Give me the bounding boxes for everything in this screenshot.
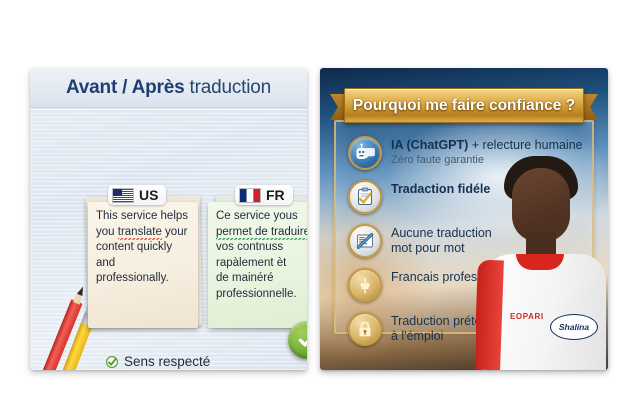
- no-word-for-word-icon: [348, 224, 382, 258]
- english-source-note: This service helps you translate your co…: [88, 202, 198, 328]
- poster-canvas: Avant / Après traduction: [0, 0, 618, 412]
- jersey-logo-text: Shalina: [559, 322, 589, 332]
- fr-line-6: professionnelle.: [216, 288, 297, 300]
- en-line-3: content quickly and: [96, 241, 172, 269]
- checkmark-icon: [296, 329, 307, 351]
- feature-title-bold: IA (ChatGPT): [391, 138, 468, 152]
- english-note-text: This service helps you translate your co…: [96, 209, 192, 287]
- avatar: EOPARI Shalina: [476, 154, 608, 370]
- tab-target-language-fr[interactable]: FR: [235, 185, 293, 205]
- jersey-sponsor-text: EOPARI: [510, 312, 544, 321]
- fr-line-5: de mainéré: [216, 272, 274, 284]
- en-line-2-pre: you: [96, 226, 118, 238]
- avatar-jersey-sleeve: [476, 260, 504, 370]
- list-item-label: Sens respecté: [124, 354, 210, 369]
- jersey-logo-badge: Shalina: [550, 314, 598, 340]
- tab-label-fr: FR: [266, 187, 285, 203]
- fr-line-3: vos contnuss: [216, 241, 283, 253]
- french-target-note: Ce service yous permet de traduire vos c…: [208, 202, 307, 328]
- french-note-text: Ce service yous permet de traduire vos c…: [216, 209, 307, 302]
- feature-title-rest: + relecture humaine: [468, 138, 582, 152]
- check-circle-icon: [106, 356, 118, 368]
- avatar-face: [512, 168, 570, 242]
- benefits-list: Sens respecté Francais naturel Ton profe…: [106, 352, 230, 370]
- robot-chat-icon: [348, 136, 382, 170]
- en-line-4: professionally.: [96, 272, 169, 284]
- us-flag-icon: [112, 188, 134, 203]
- feature-title: IA (ChatGPT) + relecture humaine: [391, 138, 583, 153]
- padlock-icon: [348, 312, 382, 346]
- feature-title: Traduction préte: [391, 314, 482, 329]
- clipboard-check-icon: [348, 180, 382, 214]
- ribbon-banner: Pourquoi me faire confiance ?: [330, 88, 598, 124]
- left-card-header: Avant / Après traduction: [30, 68, 307, 108]
- en-line-1: This service helps: [96, 210, 188, 222]
- feature-title-line2: à l'émploi: [391, 329, 482, 344]
- list-item: Sens respecté: [106, 352, 230, 370]
- page-title-light: traduction: [184, 77, 271, 98]
- fr-underlined-phrase: permet de traduire: [216, 226, 307, 240]
- ribbon-body: Pourquoi me faire confiance ?: [344, 88, 584, 123]
- fleur-de-lis-icon: [348, 268, 382, 302]
- page-title: Avant / Après traduction: [66, 77, 271, 99]
- before-after-card: Avant / Après traduction: [30, 68, 307, 370]
- ribbon-title: Pourquoi me faire confiance ?: [353, 97, 575, 115]
- fr-flag-icon: [239, 188, 261, 203]
- page-title-bold: Avant / Après: [66, 77, 184, 98]
- trust-card: Pourquoi me faire confiance ?: [320, 68, 608, 370]
- en-misspelled-word: translate: [118, 226, 162, 240]
- en-line-2-post: your: [162, 226, 188, 238]
- tab-source-language-us[interactable]: US: [108, 185, 166, 205]
- feature-text: Traduction préte à l'émploi: [391, 312, 482, 344]
- fr-line-1: Ce service yous: [216, 210, 298, 222]
- fr-line-4: rapàlement èt: [216, 257, 286, 269]
- tab-label-us: US: [139, 187, 158, 203]
